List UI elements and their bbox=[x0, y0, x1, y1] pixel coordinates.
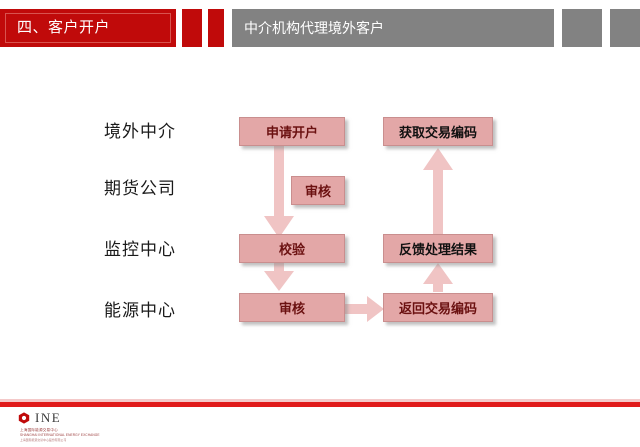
footer-rule bbox=[0, 402, 640, 407]
row-label-overseas-intermediary: 境外中介 bbox=[104, 117, 176, 142]
node-return-trading-code[interactable]: 返回交易编码 bbox=[383, 293, 493, 322]
arrow-feedback-to-obtain-code bbox=[422, 146, 454, 242]
flow-diagram: 境外中介 期货公司 监控中心 能源中心 bbox=[0, 0, 640, 447]
node-apply-account[interactable]: 申请开户 bbox=[239, 117, 345, 146]
arrow-review-to-return-code bbox=[345, 295, 385, 323]
row-label-monitoring-center: 监控中心 bbox=[104, 235, 176, 260]
row-label-futures-company: 期货公司 bbox=[104, 174, 176, 199]
ine-wordmark: INE bbox=[35, 411, 61, 424]
ine-english-sub: 上海国际能源交易中心股份有限公司 bbox=[20, 438, 168, 442]
node-obtain-trading-code[interactable]: 获取交易编码 bbox=[383, 117, 493, 146]
ine-hexagon-icon bbox=[18, 412, 30, 424]
node-review-energy[interactable]: 审核 bbox=[239, 293, 345, 322]
arrow-verify-to-review bbox=[263, 263, 295, 293]
row-label-energy-center: 能源中心 bbox=[104, 296, 176, 321]
slide-canvas: 四、客户开户 中介机构代理境外客户 境外中介 期货公司 监控中心 能源中心 bbox=[0, 0, 640, 447]
node-review-futures[interactable]: 审核 bbox=[291, 176, 345, 205]
arrow-return-code-to-feedback bbox=[422, 263, 454, 293]
node-verify[interactable]: 校验 bbox=[239, 234, 345, 263]
node-feedback-result[interactable]: 反馈处理结果 bbox=[383, 234, 493, 263]
ine-logo: INE 上海国际能源交易中心 SHANGHAI INTERNATIONAL EN… bbox=[18, 410, 168, 442]
